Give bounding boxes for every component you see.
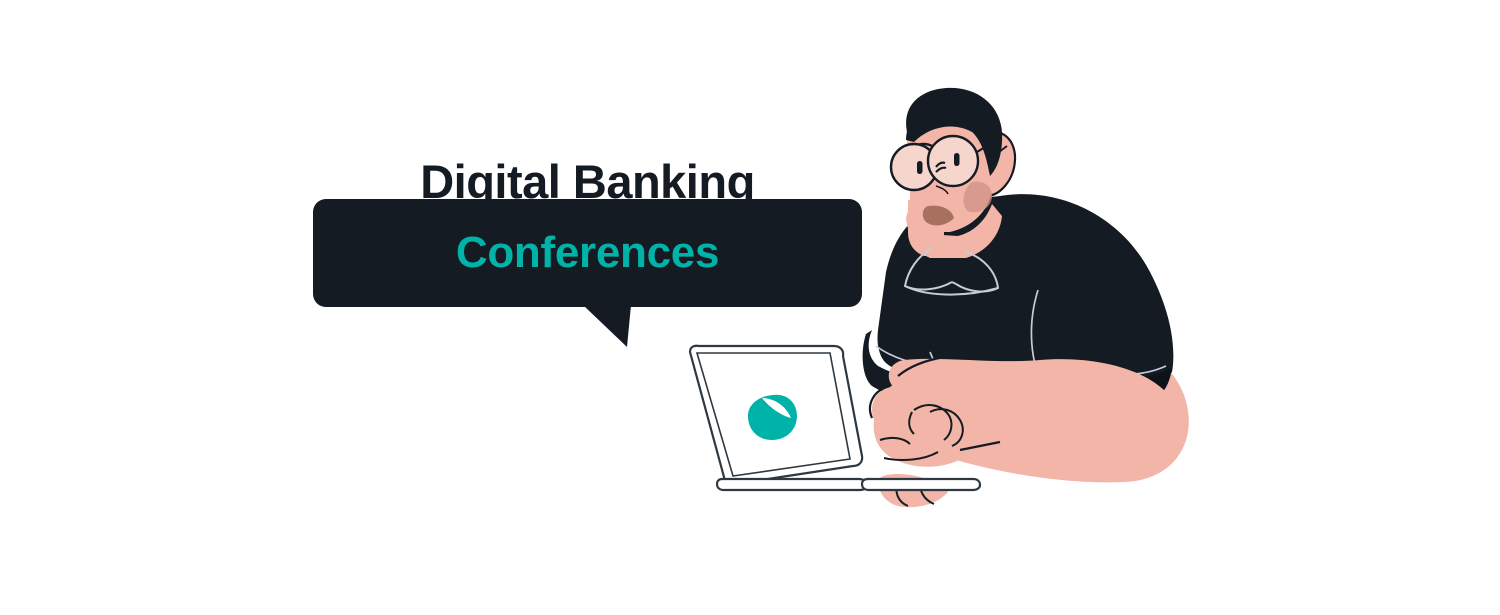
laptop-base-left xyxy=(717,479,866,490)
hero-banner: Digital Banking Conferences xyxy=(0,0,1500,615)
collar-right xyxy=(956,252,998,291)
hand xyxy=(872,384,978,467)
shirt-chest xyxy=(878,203,1036,394)
eyebrow-left xyxy=(906,144,932,152)
glasses xyxy=(891,136,990,190)
ear-inner-line-2 xyxy=(999,146,1007,152)
shirt-bottom-accent xyxy=(1044,368,1172,408)
hair-front xyxy=(906,110,972,142)
thumb-line xyxy=(960,442,1000,450)
laptop-base-right xyxy=(862,479,980,490)
right-lens xyxy=(928,136,978,186)
glasses-bridge xyxy=(936,163,945,167)
laptop-lid xyxy=(690,346,862,484)
laptop-group xyxy=(690,346,980,490)
glasses-bridge-2 xyxy=(936,168,946,172)
hand-outline-left xyxy=(870,386,890,418)
nose-line xyxy=(936,186,948,194)
speech-bubble-tail xyxy=(583,305,631,347)
shirt-hem-left xyxy=(863,330,975,412)
left-lens xyxy=(891,144,937,190)
torso-group xyxy=(863,194,1189,482)
right-pupil xyxy=(954,153,960,166)
arm-top-line xyxy=(898,355,1010,376)
shirt-edge-line xyxy=(1030,362,1122,370)
eyebrow-right xyxy=(938,143,966,150)
sleeve-hem-lines xyxy=(876,290,1166,412)
polo-shirt xyxy=(879,194,1173,400)
arm-group xyxy=(870,355,1182,508)
arm xyxy=(889,359,1183,480)
lower-fingers xyxy=(879,474,948,507)
laptop-logo xyxy=(748,395,797,440)
speech-bubble: Conferences xyxy=(313,199,862,307)
glasses-temple xyxy=(977,144,990,152)
jaw xyxy=(906,196,1002,258)
collar-seam xyxy=(905,286,998,295)
mouth-shadow xyxy=(923,206,954,226)
finger-lines xyxy=(880,405,963,506)
ear-inner-line xyxy=(991,146,997,168)
hair xyxy=(906,88,1002,176)
collar-placket xyxy=(952,282,956,284)
collar-left xyxy=(905,248,952,289)
hip xyxy=(902,329,1189,482)
neck xyxy=(908,200,944,256)
ear xyxy=(978,132,1015,196)
head-group xyxy=(891,88,1015,258)
person-with-laptop-illustration xyxy=(0,0,1500,615)
speech-bubble-label: Conferences xyxy=(313,199,862,307)
face xyxy=(907,107,995,232)
cheek-shadow xyxy=(964,182,993,213)
shirt-edge-line-2 xyxy=(948,410,1010,418)
collar-group xyxy=(905,248,998,295)
left-pupil xyxy=(917,161,923,174)
laptop-lid-inner xyxy=(697,353,850,476)
